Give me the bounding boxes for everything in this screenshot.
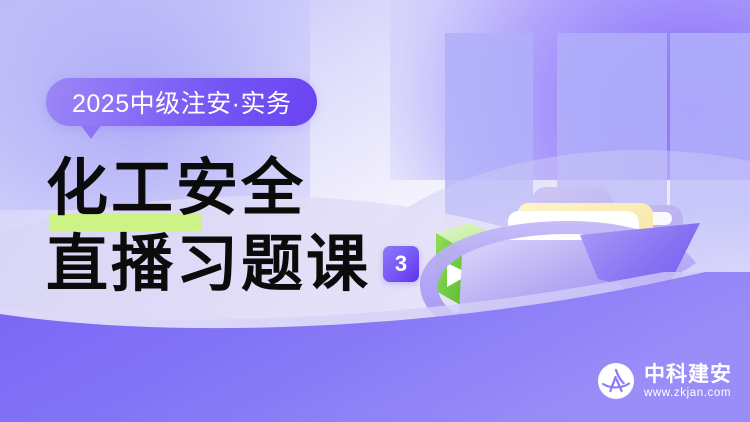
headline-line-2: 直播习题课 <box>46 228 371 300</box>
badge-tail <box>80 124 102 139</box>
headline-line-1-row: 化工安全 <box>46 152 466 224</box>
episode-number-badge: 3 <box>383 246 419 282</box>
headline-line-2-row: 直播习题课 3 <box>46 224 466 304</box>
headline-block: 化工安全 直播习题课 3 <box>46 152 466 304</box>
logo-website-url: www.zkjan.com <box>644 386 732 400</box>
logo-brand-name: 中科建安 <box>644 363 732 385</box>
course-category-badge: 2025中级注安·实务 <box>46 78 317 126</box>
logo-text-block: 中科建安 www.zkjan.com <box>644 363 732 400</box>
headline-line-1: 化工安全 <box>46 152 466 224</box>
course-promo-banner: 2025中级注安·实务 化工安全 直播习题课 3 中科建安 www.zkjan.… <box>0 0 750 422</box>
badge-label: 2025中级注安·实务 <box>72 84 291 120</box>
logo-circle-person-arrow-icon <box>597 362 635 400</box>
brand-logo[interactable]: 中科建安 www.zkjan.com <box>597 362 732 400</box>
